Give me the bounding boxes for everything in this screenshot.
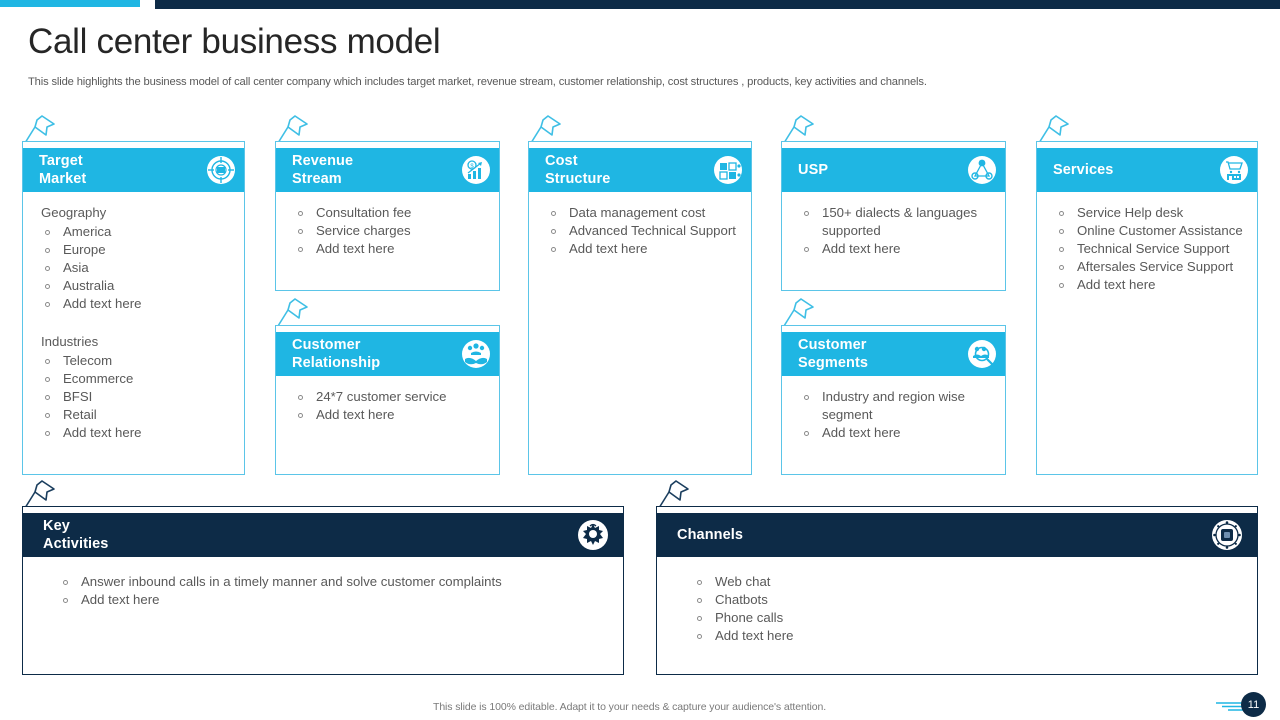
list-spacer — [41, 313, 234, 333]
card-header-target-market: Target Market — [23, 148, 244, 192]
page-number-value: 11 — [1241, 692, 1266, 717]
list-item[interactable]: Add text here — [800, 240, 995, 258]
card-body-cost-structure: Data management cost Advanced Technical … — [529, 192, 751, 266]
card-header-revenue-stream: Revenue Stream $ — [276, 148, 499, 192]
card-body-usp: 150+ dialects & languages supported Add … — [782, 192, 1005, 266]
card-title-line2: Market — [39, 170, 206, 188]
footer-note: This slide is 100% editable. Adapt it to… — [433, 701, 826, 713]
list-item[interactable]: Add text here — [294, 240, 489, 258]
list-item[interactable]: Add text here — [800, 424, 995, 442]
list-item[interactable]: Data management cost — [547, 204, 741, 222]
card-title-services: Services — [1053, 161, 1219, 179]
list-item[interactable]: Add text here — [1055, 276, 1247, 294]
list-item[interactable]: Asia — [41, 259, 234, 277]
card-title-line2: Stream — [292, 170, 461, 188]
page-title: Call center business model — [28, 22, 440, 62]
list-item[interactable]: Ecommerce — [41, 370, 234, 388]
list-item[interactable]: Consultation fee — [294, 204, 489, 222]
card-header-customer-relationship: Customer Relationship — [276, 332, 499, 376]
top-accent-bar-navy — [155, 0, 1280, 9]
list-item[interactable]: Online Customer Assistance — [1055, 222, 1247, 240]
panel-title-channels: Channels — [677, 526, 1211, 544]
card-title-line1: Revenue — [292, 152, 461, 170]
gear-cog-icon — [577, 519, 609, 551]
list-item[interactable]: Service charges — [294, 222, 489, 240]
panel-body-channels: Web chat Chatbots Phone calls Add text h… — [657, 557, 1257, 653]
card-header-usp: USP — [782, 148, 1005, 192]
card-body-target-market: Geography America Europe Asia Australia … — [23, 192, 244, 450]
top-accent-bar-cyan — [0, 0, 140, 7]
card-title-line1: Services — [1053, 161, 1219, 179]
card-title-customer-relationship: Customer Relationship — [292, 336, 461, 372]
card-body-customer-relationship: 24*7 customer service Add text here — [276, 376, 499, 432]
page-number-badge: 11 — [1204, 692, 1266, 718]
list-item[interactable]: America — [41, 223, 234, 241]
panel-title-line2: Activities — [43, 535, 577, 553]
list-item[interactable]: Answer inbound calls in a timely manner … — [59, 573, 613, 591]
network-nodes-icon — [967, 155, 997, 185]
card-title-line2: Structure — [545, 170, 713, 188]
list-item[interactable]: Chatbots — [693, 591, 1247, 609]
panel-key-activities[interactable]: Key Activities Answer inbound calls in a… — [22, 506, 624, 675]
handshake-people-icon — [461, 339, 491, 369]
group-label-geography: Geography — [41, 204, 234, 222]
list-usp: 150+ dialects & languages supported Add … — [800, 204, 995, 258]
panel-header-channels: Channels — [657, 513, 1257, 557]
compass-radial-icon — [1211, 519, 1243, 551]
list-item[interactable]: Add text here — [59, 591, 613, 609]
card-body-revenue-stream: Consultation fee Service charges Add tex… — [276, 192, 499, 266]
list-item[interactable]: Aftersales Service Support — [1055, 258, 1247, 276]
list-cost-structure: Data management cost Advanced Technical … — [547, 204, 741, 258]
list-key-activities: Answer inbound calls in a timely manner … — [59, 573, 613, 609]
pushpin-icon — [275, 295, 311, 329]
card-cost-structure[interactable]: Cost Structure Data management cost Adva… — [528, 141, 752, 475]
target-crosshair-icon — [206, 155, 236, 185]
revenue-growth-chart-icon: $ — [461, 155, 491, 185]
list-item[interactable]: Telecom — [41, 352, 234, 370]
card-title-line1: Cost — [545, 152, 713, 170]
list-item[interactable]: Phone calls — [693, 609, 1247, 627]
list-item[interactable]: Service Help desk — [1055, 204, 1247, 222]
segment-magnifier-people-icon — [967, 339, 997, 369]
card-title-usp: USP — [798, 161, 967, 179]
panel-header-key-activities: Key Activities — [23, 513, 623, 557]
card-revenue-stream[interactable]: Revenue Stream $ Consultation fee Servic… — [275, 141, 500, 291]
card-title-target-market: Target Market — [39, 152, 206, 188]
list-channels: Web chat Chatbots Phone calls Add text h… — [693, 573, 1247, 645]
list-item[interactable]: Web chat — [693, 573, 1247, 591]
list-customer-relationship: 24*7 customer service Add text here — [294, 388, 489, 424]
list-item[interactable]: Advanced Technical Support — [547, 222, 741, 240]
card-body-customer-segments: Industry and region wise segment Add tex… — [782, 376, 1005, 450]
list-item[interactable]: Retail — [41, 406, 234, 424]
list-item[interactable]: Europe — [41, 241, 234, 259]
panel-title-key-activities: Key Activities — [43, 517, 577, 553]
list-industries: Telecom Ecommerce BFSI Retail Add text h… — [41, 352, 234, 442]
card-services[interactable]: Services Service Help desk Online Custom… — [1036, 141, 1258, 475]
list-item[interactable]: Add text here — [41, 295, 234, 313]
card-title-line1: USP — [798, 161, 967, 179]
list-item[interactable]: 24*7 customer service — [294, 388, 489, 406]
list-item[interactable]: Add text here — [41, 424, 234, 442]
card-header-customer-segments: Customer Segments — [782, 332, 1005, 376]
list-item[interactable]: Technical Service Support — [1055, 240, 1247, 258]
slide-canvas: Call center business model This slide hi… — [0, 0, 1280, 720]
card-title-cost-structure: Cost Structure — [545, 152, 713, 188]
list-item[interactable]: BFSI — [41, 388, 234, 406]
card-customer-relationship[interactable]: Customer Relationship 24*7 customer serv… — [275, 325, 500, 475]
group-label-industries: Industries — [41, 333, 234, 351]
card-title-revenue-stream: Revenue Stream — [292, 152, 461, 188]
card-title-customer-segments: Customer Segments — [798, 336, 967, 372]
list-item[interactable]: Add text here — [294, 406, 489, 424]
card-body-services: Service Help desk Online Customer Assist… — [1037, 192, 1257, 302]
list-geography: America Europe Asia Australia Add text h… — [41, 223, 234, 313]
card-header-cost-structure: Cost Structure — [529, 148, 751, 192]
list-revenue-stream: Consultation fee Service charges Add tex… — [294, 204, 489, 258]
pushpin-icon — [781, 295, 817, 329]
list-customer-segments: Industry and region wise segment Add tex… — [800, 388, 995, 442]
panel-channels[interactable]: Channels Web chat Chatbots Pho — [656, 506, 1258, 675]
list-services: Service Help desk Online Customer Assist… — [1055, 204, 1247, 294]
list-item[interactable]: Industry and region wise segment — [800, 388, 995, 424]
panel-title-line1: Channels — [677, 526, 1211, 544]
card-usp[interactable]: USP 150+ dialects & languages supported … — [781, 141, 1006, 291]
card-customer-segments[interactable]: Customer Segments Industry and region wi… — [781, 325, 1006, 475]
list-item[interactable]: Add text here — [693, 627, 1247, 645]
shopping-cart-store-icon — [1219, 155, 1249, 185]
card-title-line2: Segments — [798, 354, 967, 372]
list-item[interactable]: 150+ dialects & languages supported — [800, 204, 995, 240]
cost-blocks-icon — [713, 155, 743, 185]
list-item[interactable]: Add text here — [547, 240, 741, 258]
card-title-line1: Target — [39, 152, 206, 170]
card-title-line1: Customer — [292, 336, 461, 354]
panel-title-line1: Key — [43, 517, 577, 535]
card-header-services: Services — [1037, 148, 1257, 192]
list-item[interactable]: Australia — [41, 277, 234, 295]
panel-body-key-activities: Answer inbound calls in a timely manner … — [23, 557, 623, 617]
card-title-line2: Relationship — [292, 354, 461, 372]
card-target-market[interactable]: Target Market Geography America Europe A… — [22, 141, 245, 475]
page-subtitle: This slide highlights the business model… — [28, 76, 927, 88]
card-title-line1: Customer — [798, 336, 967, 354]
